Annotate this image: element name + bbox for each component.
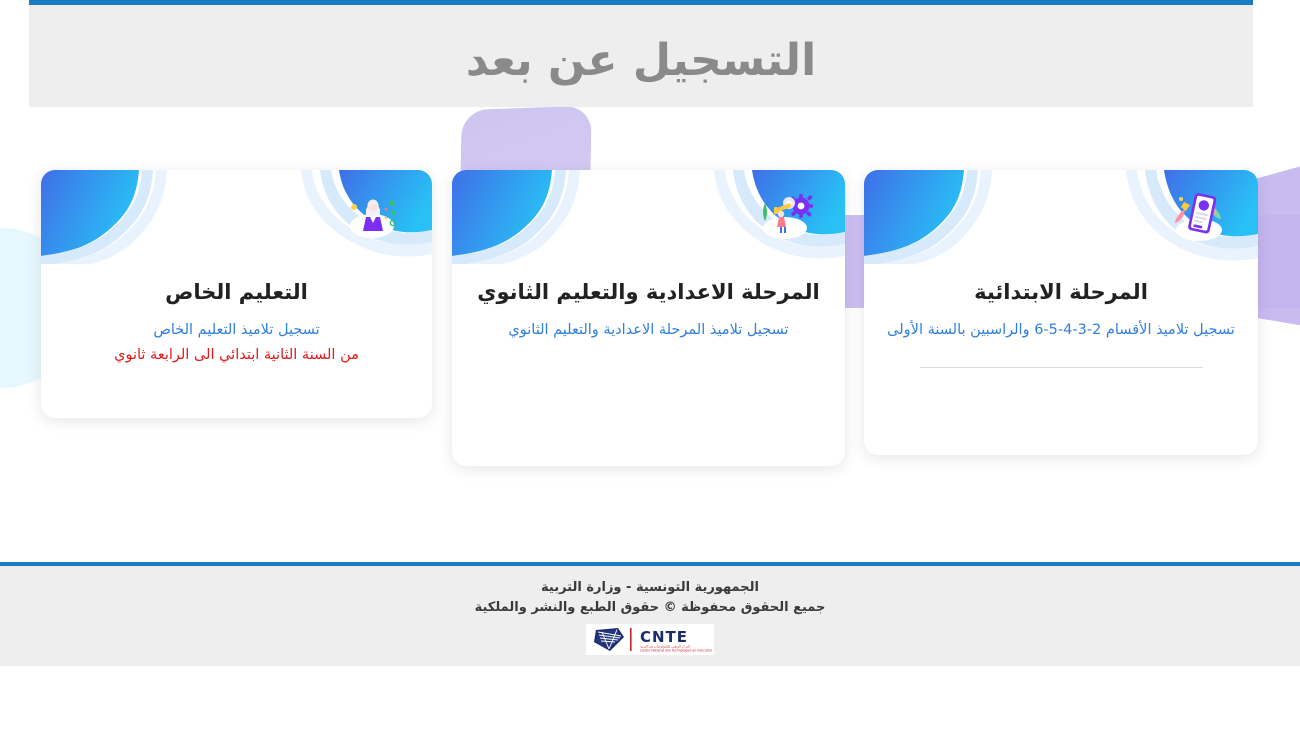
card-banner	[452, 170, 845, 264]
card-body: المرحلة الاعدادية والتعليم الثانوي تسجيل…	[452, 278, 845, 342]
footer-line-ministry: الجمهورية التونسية - وزارة التربية	[0, 566, 1300, 598]
header-band: التسجيل عن بعد	[29, 0, 1253, 107]
card-title: المرحلة الاعدادية والتعليم الثانوي	[474, 278, 823, 306]
key-gear-icon	[755, 186, 817, 248]
card-subtitle: تسجيل تلاميذ التعليم الخاص	[63, 319, 410, 341]
svg-text:Centre National des Technologi: Centre National des Technologies en Educ…	[640, 649, 712, 653]
card-private-education[interactable]: التعليم الخاص تسجيل تلاميذ التعليم الخاص…	[41, 170, 432, 418]
page-title: التسجيل عن بعد	[29, 33, 1253, 88]
card-body: التعليم الخاص تسجيل تلاميذ التعليم الخاص…	[41, 278, 432, 366]
card-subtitle: تسجيل تلاميذ الأقسام 2-3-4-5-6 والراسبين…	[886, 319, 1236, 341]
cnte-logo: CNTE المركز الوطني للتكنولوجيات في الترب…	[586, 624, 714, 655]
card-preparatory-secondary[interactable]: المرحلة الاعدادية والتعليم الثانوي تسجيل…	[452, 170, 845, 466]
footer-band: الجمهورية التونسية - وزارة التربية جميع …	[0, 566, 1300, 666]
card-banner	[41, 170, 432, 264]
mobile-document-icon	[1168, 186, 1230, 248]
card-banner	[864, 170, 1258, 264]
card-title: التعليم الخاص	[63, 278, 410, 306]
card-subtitle: تسجيل تلاميذ المرحلة الاعدادية والتعليم …	[474, 319, 823, 341]
person-purple-shirt-icon	[342, 186, 404, 248]
page-root: التسجيل عن بعد	[0, 0, 1300, 751]
svg-text:CNTE: CNTE	[640, 628, 688, 646]
card-divider	[920, 367, 1203, 368]
card-primary-stage[interactable]: المرحلة الابتدائية تسجيل تلاميذ الأقسام …	[864, 170, 1258, 455]
footer-separator-rule	[0, 562, 1300, 566]
card-title: المرحلة الابتدائية	[886, 278, 1236, 306]
card-subtitle-alert: من السنة الثانية ابتدائي الى الرابعة ثان…	[63, 344, 410, 366]
card-body: المرحلة الابتدائية تسجيل تلاميذ الأقسام …	[864, 278, 1258, 368]
footer-line-copyright: جميع الحقوق محفوظة © حقوق الطبع والنشر و…	[0, 598, 1300, 618]
